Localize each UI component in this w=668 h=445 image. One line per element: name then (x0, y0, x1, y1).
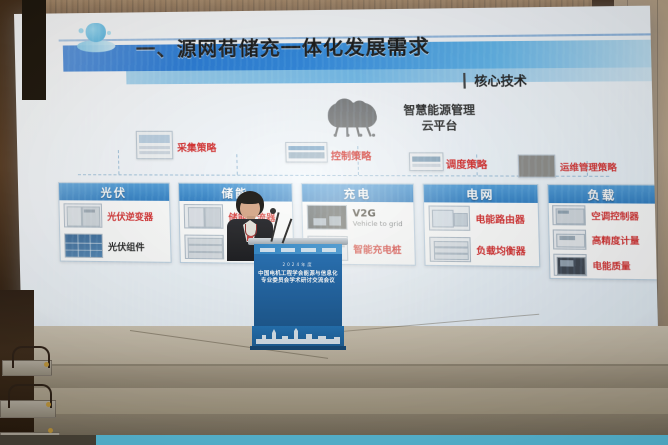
list-item[interactable]: 光伏组件 (60, 230, 170, 261)
strategy-label-ops: 运维管理策略 (560, 161, 617, 174)
item-label-precision-meter: 高精度计量 (592, 233, 640, 246)
load-balancer-thumb (429, 237, 471, 262)
ops-thumb (518, 155, 556, 178)
skyline-graphic (256, 328, 340, 344)
inverter-cabinet-thumb (63, 203, 102, 227)
battery-rack-thumb (184, 235, 224, 260)
chair-stud (48, 428, 53, 433)
strategy-label-collect: 采集策略 (177, 140, 217, 154)
bottom-bar-left (0, 435, 96, 445)
cloud-platform-label: 智慧能源管理 云平台 (386, 102, 493, 134)
column-header-load: 负载 (548, 185, 656, 204)
speaker-cabinet (22, 0, 46, 100)
column-header-label: 电网 (466, 185, 495, 202)
column-header-label: 光伏 (100, 184, 127, 200)
strategy-label-dispatch: 调度策略 (446, 157, 488, 172)
slide-header: 一、源网荷储充一体化发展需求 核心技术 (14, 6, 652, 88)
dispatch-thumb (409, 152, 444, 171)
ac-controller-thumb (552, 205, 586, 225)
list-item[interactable]: 高精度计量 (549, 227, 657, 252)
controller-thumb (285, 142, 328, 163)
water-drop-logo (74, 21, 117, 56)
list-item[interactable]: V2G Vehicle to grid (302, 202, 414, 234)
column-header-pv: 光伏 (59, 183, 169, 201)
list-item[interactable]: 电能路由器 (424, 202, 538, 234)
chair-stud (46, 402, 51, 407)
column-pv[interactable]: 光伏 光伏逆变器 (58, 182, 172, 263)
podium-sponsor-logos (260, 246, 336, 253)
cloud-label-line1: 智慧能源管理 (386, 102, 493, 118)
podium-foot (250, 346, 346, 350)
meter-thumb (136, 131, 174, 159)
title-separator (463, 73, 466, 89)
podium-body (254, 244, 342, 328)
cloud-icon (324, 103, 383, 144)
item-label-energy-router: 电能路由器 (475, 212, 525, 226)
podium: 2024年度 中国电机工程学会能源与信息化 专业委员会学术研讨交流会议 (252, 238, 344, 348)
item-label-load-balancer: 负载均衡器 (476, 243, 526, 257)
audience-chairs (0, 300, 80, 445)
column-load[interactable]: 负载 空调控制器 高精度计量 (547, 184, 658, 280)
category-columns: 光伏 光伏逆变器 (58, 182, 658, 323)
podium-title-line2: 专业委员会学术研讨交流会议 (256, 278, 340, 285)
podium-year-line: 2024年度 (258, 262, 338, 268)
solar-panel-array-thumb (64, 233, 103, 258)
slide-subtitle: 核心技术 (474, 71, 527, 89)
column-header-charging: 充电 (302, 184, 413, 202)
list-item[interactable]: 电能质量 (550, 252, 658, 280)
microphone-head (270, 208, 276, 214)
dashed-drop (118, 150, 120, 174)
column-header-label: 负载 (587, 186, 616, 203)
list-item[interactable]: 空调控制器 (549, 203, 657, 228)
cloud-label-line2: 云平台 (387, 118, 494, 134)
column-header-grid: 电网 (424, 185, 538, 203)
column-header-label: 充电 (343, 185, 371, 202)
item-sublabel-v2g: Vehicle to grid (353, 219, 403, 228)
list-item[interactable]: 负载均衡器 (425, 234, 539, 267)
v2g-station-thumb (307, 205, 348, 230)
header-blue-band-secondary (126, 67, 652, 84)
dashed-drop (236, 154, 238, 174)
item-label-pv-module: 光伏组件 (108, 239, 145, 253)
column-grid[interactable]: 电网 电能路由器 (423, 184, 541, 268)
screenshot-root: 一、源网荷储充一体化发展需求 核心技术 智慧能源管理 云平台 (0, 0, 668, 445)
item-label-power-quality: 电能质量 (592, 259, 630, 272)
item-label-charging-pile: 智能充电桩 (353, 242, 402, 256)
energy-router-thumb (428, 205, 470, 230)
item-label-ac-controller: 空调控制器 (591, 209, 639, 222)
wall-seam (657, 0, 658, 330)
item-label-v2g: V2G (352, 208, 402, 220)
power-quality-thumb (553, 254, 587, 277)
precision-meter-thumb (553, 229, 587, 249)
chair-stud (44, 362, 49, 367)
item-label-pv-inverter: 光伏逆变器 (107, 209, 153, 222)
list-item[interactable]: 光伏逆变器 (59, 200, 169, 231)
podium-title: 中国电机工程学会能源与信息化 专业委员会学术研讨交流会议 (256, 271, 340, 286)
strategy-label-control: 控制策略 (331, 148, 372, 163)
slide-title: 一、源网荷储充一体化发展需求 (135, 31, 430, 62)
pcs-cabinet-thumb (184, 204, 224, 229)
cloud-platform-group: 智慧能源管理 云平台 (324, 100, 531, 148)
bottom-accent-strip (96, 435, 668, 445)
